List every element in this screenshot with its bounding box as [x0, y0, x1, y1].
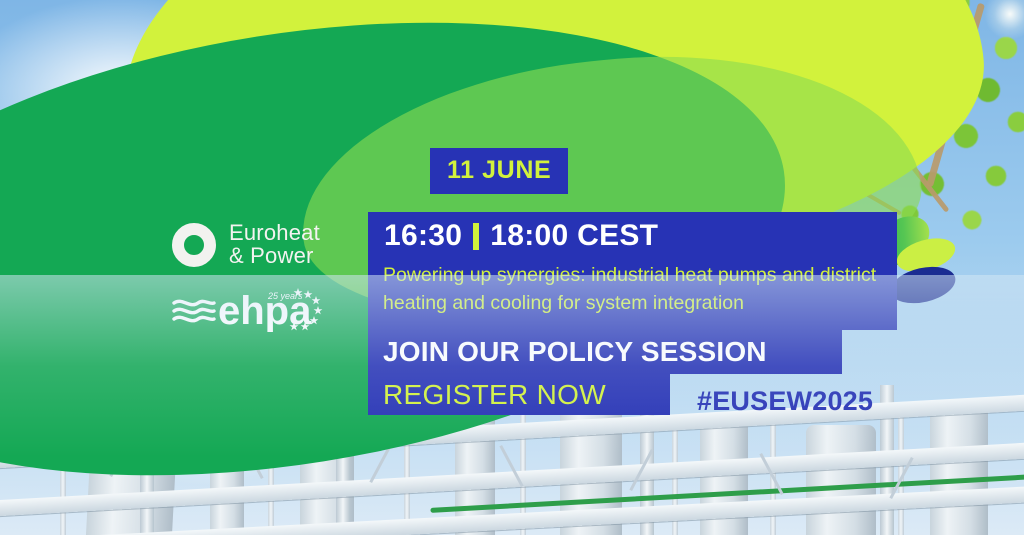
ring-icon	[172, 223, 216, 267]
atmospheric-haze	[0, 275, 1024, 535]
industrial-plant-photo	[0, 275, 1024, 535]
date-badge: 11 JUNE	[430, 148, 568, 194]
euroheat-power-logo: Euroheat & Power	[172, 222, 320, 267]
time-separator-icon	[473, 223, 479, 250]
time-end: 18:00 CEST	[490, 219, 658, 253]
session-time: 16:30 18:00 CEST	[384, 219, 658, 253]
euroheat-line-1: Euroheat	[229, 220, 320, 245]
eusew-policy-session-banner: Euroheat & Power ehpa 25 years	[0, 0, 1024, 535]
time-start: 16:30	[384, 219, 462, 253]
euroheat-line-2: & Power	[229, 243, 314, 268]
euroheat-wordmark: Euroheat & Power	[229, 222, 320, 267]
